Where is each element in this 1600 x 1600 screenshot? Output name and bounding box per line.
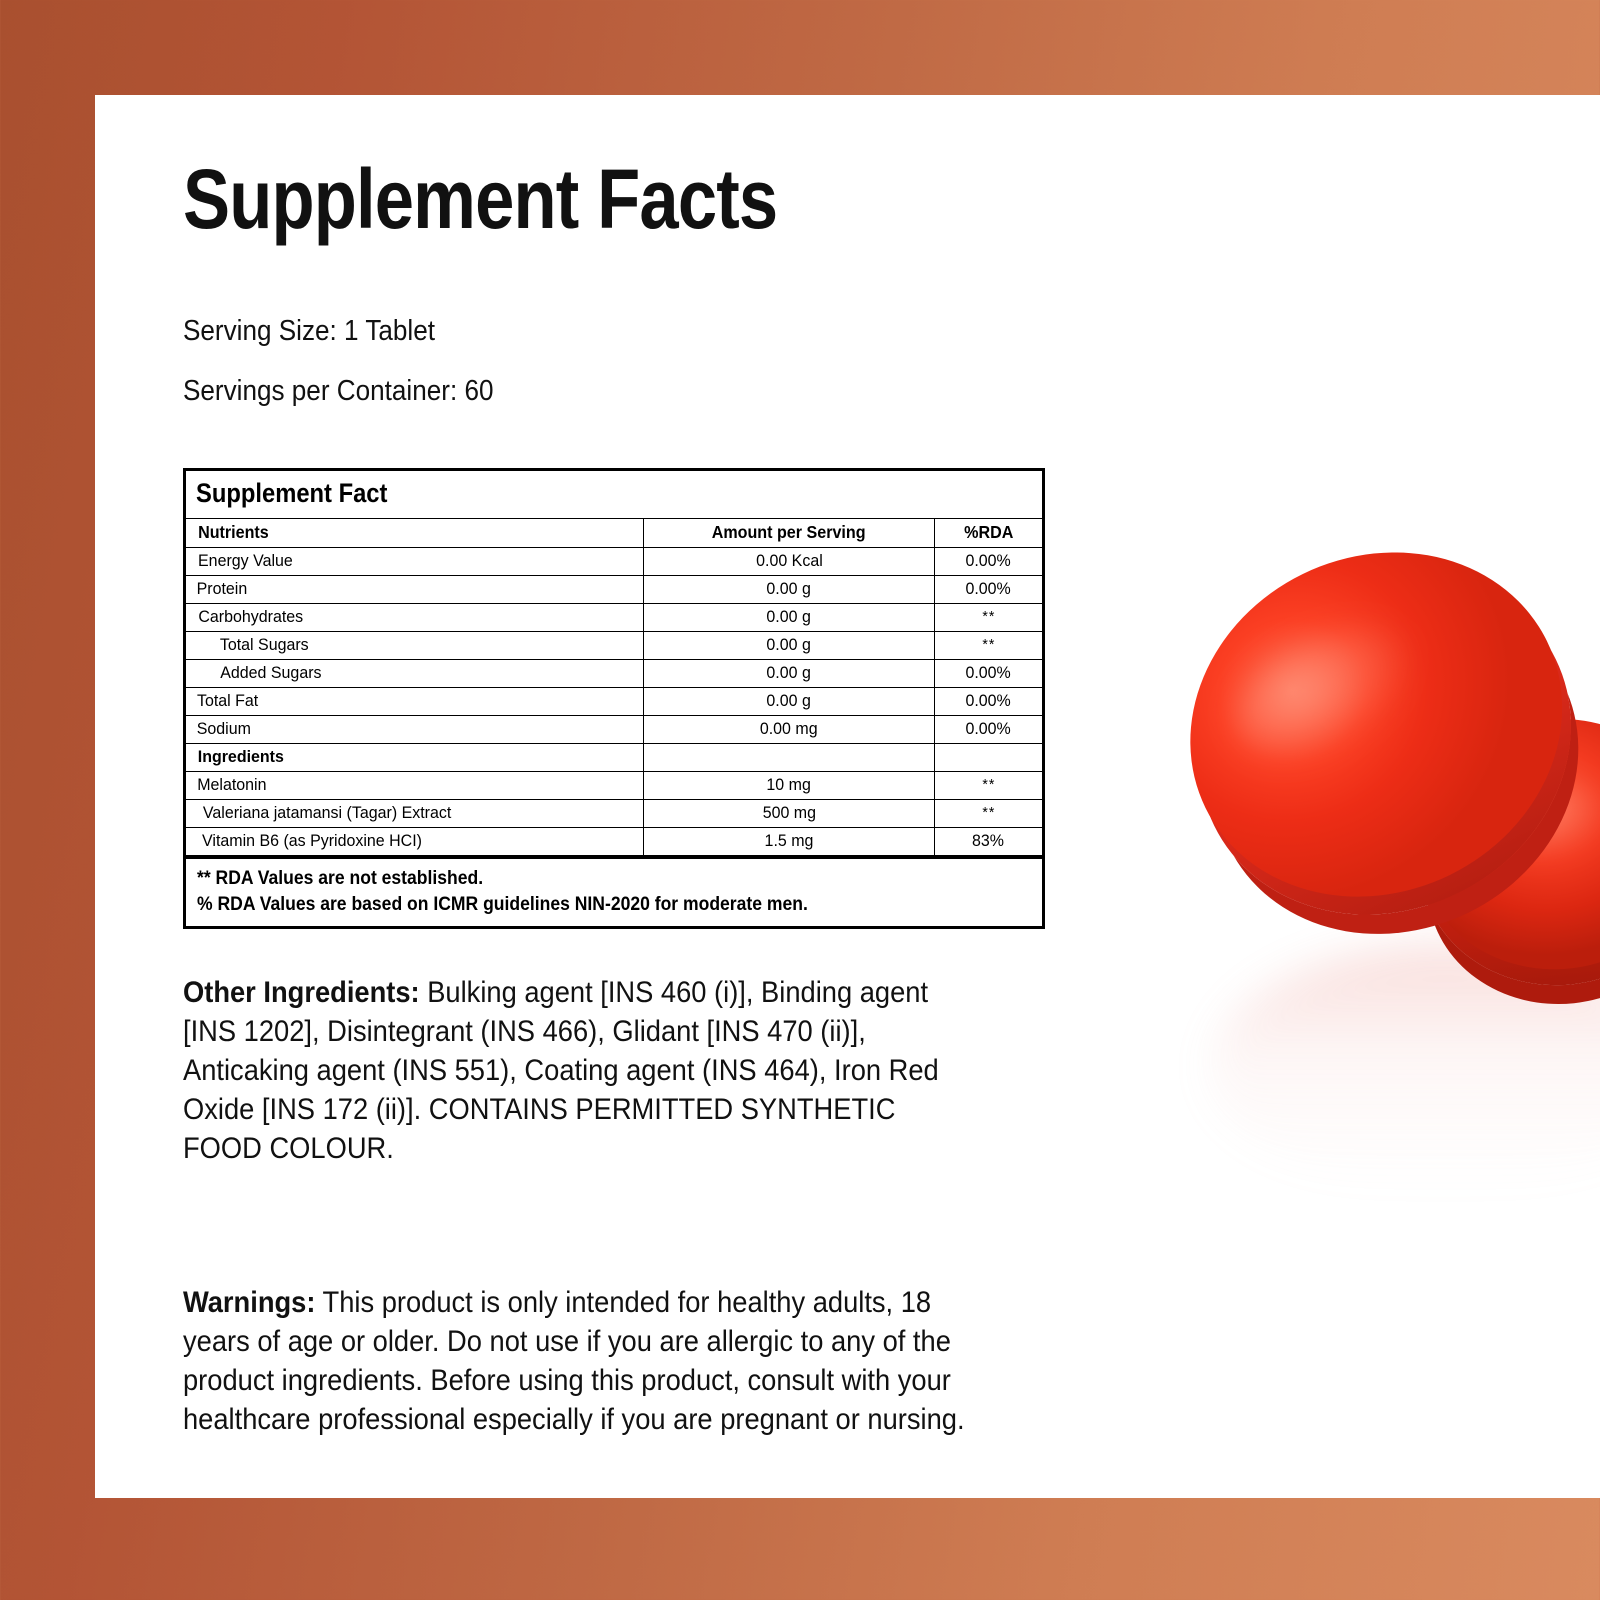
- table-row: Melatonin10 mg**: [185, 772, 1044, 800]
- other-ingredients-label: Other Ingredients:: [183, 976, 420, 1009]
- table-row: Valeriana jatamansi (Tagar) Extract500 m…: [185, 800, 1044, 828]
- row-nutrient-text: Total Sugars: [220, 635, 309, 655]
- row-nutrient-text: Valeriana jatamansi (Tagar) Extract: [203, 803, 451, 823]
- row-nutrient-cell: Total Fat: [185, 688, 644, 716]
- row-rda-cell: 0.00%: [935, 716, 1044, 744]
- row-amount-text: 0.00 g: [767, 663, 811, 683]
- row-nutrient-cell: Ingredients: [185, 744, 644, 772]
- row-rda-cell: 0.00%: [935, 548, 1044, 576]
- table-row: Ingredients: [185, 744, 1044, 772]
- warnings-paragraph: Warnings: This product is only intended …: [183, 1283, 967, 1439]
- row-nutrient-text: Protein: [197, 579, 248, 599]
- row-rda-text: **: [982, 608, 995, 625]
- row-amount-cell: 0.00 g: [643, 688, 934, 716]
- table-caption-cell: Supplement Fact: [185, 470, 1044, 519]
- row-amount-cell: 1.5 mg: [643, 828, 934, 858]
- row-rda-cell: 83%: [935, 828, 1044, 858]
- row-rda-text: **: [982, 804, 995, 821]
- row-rda-cell: **: [935, 800, 1044, 828]
- footnote-line: % RDA Values are based on ICMR guideline…: [197, 892, 949, 917]
- row-amount-cell: 0.00 g: [643, 660, 934, 688]
- product-image-tablets: [1190, 550, 1600, 1210]
- table-caption-row: Supplement Fact: [185, 470, 1044, 519]
- row-amount-cell: 500 mg: [643, 800, 934, 828]
- row-amount-text: 0.00 g: [767, 635, 811, 655]
- row-nutrient-text: Carbohydrates: [198, 607, 303, 627]
- row-nutrient-text: Melatonin: [197, 775, 266, 795]
- row-rda-text: 0.00%: [966, 719, 1011, 739]
- row-nutrient-cell: Protein: [185, 576, 644, 604]
- row-rda-cell: 0.00%: [935, 576, 1044, 604]
- row-nutrient-cell: Sodium: [185, 716, 644, 744]
- row-amount-cell: 0.00 g: [643, 604, 934, 632]
- column-header-rda: %RDA: [935, 519, 1044, 548]
- row-amount-text: 1.5 mg: [765, 831, 814, 851]
- row-amount-text: 10 mg: [767, 775, 811, 795]
- row-amount-cell: 0.00 g: [643, 632, 934, 660]
- table-header-row: Nutrients Amount per Serving %RDA: [185, 519, 1044, 548]
- table-row: Energy Value0.00 Kcal0.00%: [185, 548, 1044, 576]
- table-row: Sodium0.00 mg0.00%: [185, 716, 1044, 744]
- serving-size-text: Serving Size: 1 Tablet: [183, 315, 975, 348]
- row-amount-text: 0.00 g: [767, 691, 811, 711]
- supplement-facts-card: Supplement Facts Serving Size: 1 Tablet …: [95, 95, 1600, 1498]
- row-nutrient-text: Sodium: [197, 719, 251, 739]
- footnote-line: ** RDA Values are not established.: [197, 866, 949, 891]
- row-nutrient-cell: Total Sugars: [185, 632, 644, 660]
- row-rda-cell: 0.00%: [935, 688, 1044, 716]
- row-rda-text: **: [982, 776, 995, 793]
- table-footnote-cell: ** RDA Values are not established.% RDA …: [185, 857, 1044, 927]
- column-header-nutrients: Nutrients: [185, 519, 644, 548]
- table-row: Added Sugars0.00 g0.00%: [185, 660, 1044, 688]
- row-rda-cell: **: [935, 632, 1044, 660]
- row-rda-cell: **: [935, 772, 1044, 800]
- row-rda-text: 83%: [973, 831, 1005, 851]
- table-row: Total Sugars0.00 g**: [185, 632, 1044, 660]
- row-amount-text: 0.00 g: [767, 607, 811, 627]
- servings-per-container-text: Servings per Container: 60: [183, 375, 975, 408]
- row-nutrient-cell: Melatonin: [185, 772, 644, 800]
- row-amount-text: 0.00 g: [767, 579, 811, 599]
- row-rda-cell: **: [935, 604, 1044, 632]
- warnings-label: Warnings:: [183, 1286, 315, 1319]
- row-nutrient-text: Energy Value: [198, 551, 293, 571]
- label-content: Supplement Facts Serving Size: 1 Tablet …: [183, 155, 1063, 1439]
- row-nutrient-cell: Energy Value: [185, 548, 644, 576]
- row-rda-text: 0.00%: [966, 579, 1011, 599]
- row-amount-cell: 0.00 g: [643, 576, 934, 604]
- column-header-amount: Amount per Serving: [643, 519, 934, 548]
- row-amount-text: 500 mg: [762, 803, 815, 823]
- table-row: Vitamin B6 (as Pyridoxine HCI)1.5 mg83%: [185, 828, 1044, 858]
- table-row: Protein0.00 g0.00%: [185, 576, 1044, 604]
- row-nutrient-text: Vitamin B6 (as Pyridoxine HCI): [202, 831, 422, 851]
- row-amount-cell: 0.00 Kcal: [643, 548, 934, 576]
- row-rda-text: 0.00%: [966, 663, 1011, 683]
- table-row: Carbohydrates0.00 g**: [185, 604, 1044, 632]
- row-rda-cell: 0.00%: [935, 660, 1044, 688]
- row-nutrient-text: Total Fat: [197, 691, 258, 711]
- row-nutrient-cell: Carbohydrates: [185, 604, 644, 632]
- row-amount-cell: [643, 744, 934, 772]
- row-amount-cell: 10 mg: [643, 772, 934, 800]
- row-nutrient-cell: Added Sugars: [185, 660, 644, 688]
- row-rda-cell: [935, 744, 1044, 772]
- supplement-facts-table: Supplement Fact Nutrients Amount per Ser…: [183, 468, 1045, 929]
- table-footnote-row: ** RDA Values are not established.% RDA …: [185, 857, 1044, 927]
- page-title: Supplement Facts: [183, 155, 922, 243]
- row-amount-text: 0.00 mg: [760, 719, 818, 739]
- row-amount-text: 0.00 Kcal: [756, 551, 823, 571]
- row-rda-text: 0.00%: [966, 551, 1011, 571]
- row-nutrient-cell: Vitamin B6 (as Pyridoxine HCI): [185, 828, 644, 858]
- row-rda-text: **: [982, 636, 995, 653]
- row-amount-cell: 0.00 mg: [643, 716, 934, 744]
- row-nutrient-text: Ingredients: [198, 747, 284, 767]
- table-row: Total Fat0.00 g0.00%: [185, 688, 1044, 716]
- row-rda-text: 0.00%: [966, 691, 1011, 711]
- table-caption-text: Supplement Fact: [196, 478, 387, 509]
- row-nutrient-text: Added Sugars: [220, 663, 321, 683]
- row-nutrient-cell: Valeriana jatamansi (Tagar) Extract: [185, 800, 644, 828]
- other-ingredients-paragraph: Other Ingredients: Bulking agent [INS 46…: [183, 973, 967, 1168]
